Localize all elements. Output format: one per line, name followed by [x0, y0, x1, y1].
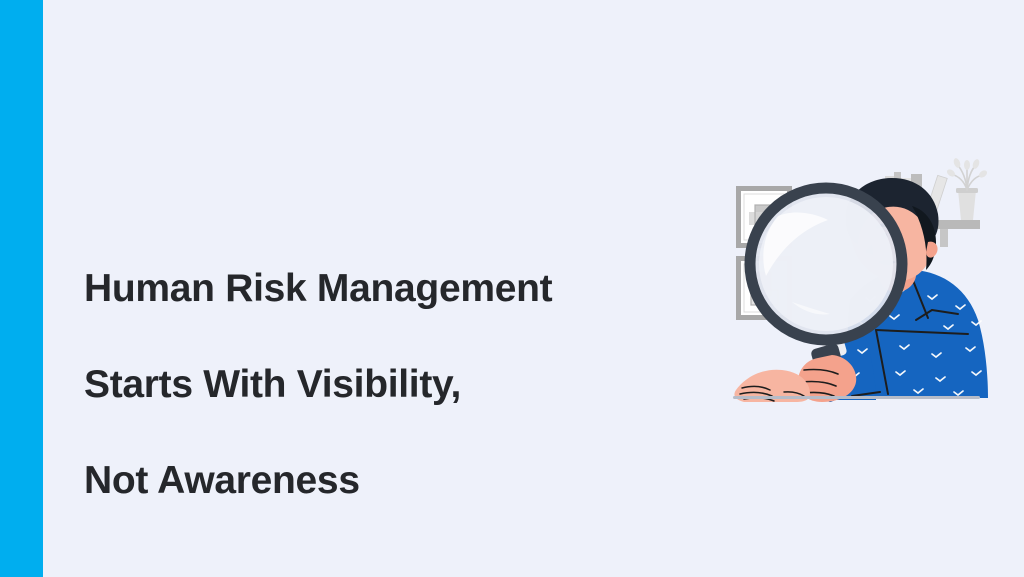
page-title-line-3: Not Awareness: [84, 457, 704, 505]
slide-canvas: Human Risk Management Starts With Visibi…: [0, 0, 1024, 577]
table-edge: [733, 396, 980, 399]
person-hands: [734, 355, 856, 402]
page-title: Human Risk Management Starts With Visibi…: [84, 217, 704, 553]
page-title-line-2: Starts With Visibility,: [84, 361, 704, 409]
page-title-line-1: Human Risk Management: [84, 265, 704, 313]
hero-illustration: [700, 150, 1000, 420]
accent-bar-left: [0, 0, 43, 577]
